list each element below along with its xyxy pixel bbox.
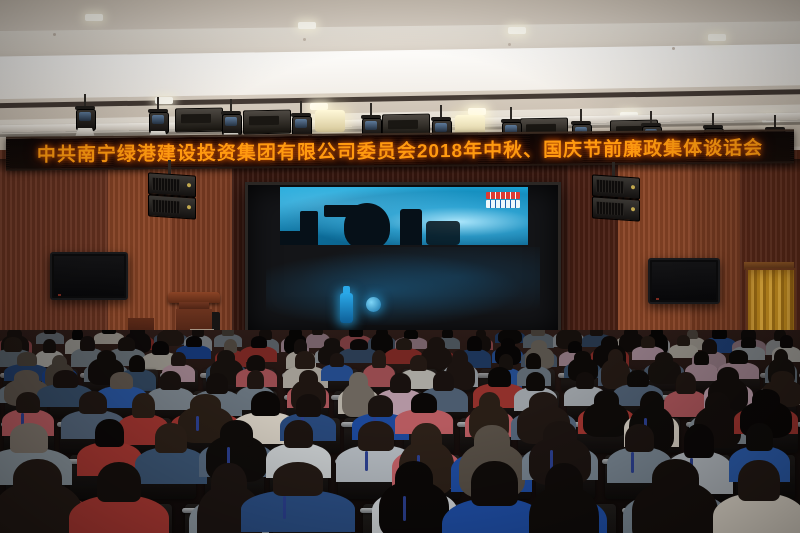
- audience-person-head: [284, 420, 313, 448]
- audience-person-head: [80, 336, 95, 351]
- audience-person-head: [531, 330, 545, 336]
- truss-fixture-box: [175, 108, 223, 133]
- audience-person-head: [752, 389, 780, 411]
- audience-person-head: [52, 355, 67, 370]
- downlight-icon: [298, 22, 316, 29]
- ceiling-sensor-icon: [303, 38, 306, 41]
- audience-person-head: [251, 391, 281, 417]
- audience-person-head: [152, 341, 169, 355]
- audience-person-head: [358, 421, 394, 450]
- audience-person-head: [43, 339, 56, 353]
- audience-person-shoulders: [321, 364, 353, 381]
- audience-person-head: [433, 371, 454, 391]
- audience-person-head: [4, 337, 22, 351]
- audience-person-head: [296, 394, 321, 417]
- audience-person-head: [44, 330, 56, 334]
- audience-person-head: [155, 423, 187, 453]
- audience-person-head: [411, 423, 441, 455]
- audience-person-head: [590, 330, 603, 336]
- audience-person-head: [576, 372, 595, 388]
- conference-hall-scene: 中共南宁绿港建设投资集团有限公司委员会2018年中秋、国庆节前廉政集体谈话会: [0, 0, 800, 533]
- audience-person-head: [780, 335, 793, 348]
- ceiling-sensor-icon: [672, 47, 675, 50]
- audience-person-head: [677, 335, 690, 346]
- audience-person-head: [712, 330, 727, 339]
- audience-person-head: [16, 392, 39, 413]
- audience-person-head: [330, 353, 344, 367]
- audience-person-head: [129, 355, 146, 372]
- audience-person-head: [251, 336, 267, 349]
- led-banner-text: 中共南宁绿港建设投资集团有限公司委员会2018年中秋、国庆节前廉政集体谈话会: [6, 133, 794, 168]
- audience-person-head: [410, 355, 427, 371]
- audience-person-head: [97, 350, 117, 366]
- downlight-icon: [85, 14, 103, 21]
- audience-person-head: [97, 462, 142, 502]
- audience-person-head: [247, 370, 264, 389]
- audience-person-head: [130, 330, 145, 337]
- truss-fixture-box: [243, 110, 291, 135]
- audience-person-head: [17, 352, 37, 366]
- audience-person-head: [640, 391, 664, 418]
- audience-person-head: [526, 372, 545, 391]
- ceiling-sensor-icon: [53, 33, 56, 36]
- audience-person-head: [222, 330, 234, 336]
- downlight-icon: [310, 103, 328, 110]
- right-wall-tv: [648, 258, 720, 304]
- audience-person-head: [746, 423, 773, 452]
- audience-person-head: [467, 336, 482, 351]
- audience-person-head: [411, 393, 437, 413]
- audience-lanyard: [196, 416, 199, 431]
- audience-person-head: [652, 459, 699, 499]
- audience-person-head: [368, 395, 394, 417]
- audience-person-head: [428, 337, 445, 352]
- audience-person-head: [372, 350, 386, 368]
- audience-person-head: [349, 330, 363, 337]
- audience-person-head: [102, 330, 115, 334]
- audience-person-head: [395, 461, 433, 496]
- audience-person-head: [10, 423, 48, 453]
- audience-person-head: [190, 394, 220, 416]
- audience-person-head: [738, 460, 779, 501]
- projected-video: [280, 187, 528, 245]
- audience-person-head: [729, 350, 747, 364]
- audience-person-head: [503, 330, 516, 333]
- audience-lanyard: [365, 451, 368, 472]
- audience-person-head: [655, 352, 673, 366]
- audience-person-head: [741, 337, 755, 348]
- audience-lanyard: [403, 496, 406, 520]
- audience-person-head: [247, 355, 265, 370]
- audience-person-head: [324, 338, 339, 350]
- audience-person-head: [684, 424, 714, 458]
- audience-person-head: [641, 336, 656, 347]
- speaker-left: [148, 172, 194, 218]
- audience-person-head: [160, 371, 181, 390]
- audience-person-head: [501, 338, 515, 350]
- audience-person-head: [220, 420, 253, 448]
- ceiling-sensor-icon: [508, 43, 511, 46]
- audience-person-head: [531, 340, 547, 353]
- audience-person-head: [676, 372, 696, 393]
- audience-person-head: [608, 349, 624, 367]
- audience-person-head: [14, 370, 38, 386]
- audience-person-head: [562, 330, 576, 334]
- audience-person-head: [545, 463, 583, 504]
- par-light-icon: [315, 110, 345, 132]
- audience-person-head: [79, 391, 108, 414]
- audience-person-head: [526, 353, 541, 369]
- audience-person-head: [771, 371, 793, 387]
- audience-person-head: [717, 367, 739, 387]
- audience-person-head: [705, 392, 730, 417]
- audience-person-head: [312, 330, 323, 335]
- downlight-icon: [708, 34, 726, 41]
- audience-person-head: [13, 459, 62, 500]
- audience-person-head: [442, 330, 453, 338]
- audience-person-head: [53, 370, 78, 388]
- audience-person-head: [95, 419, 124, 447]
- audience-person-head: [217, 350, 235, 365]
- speaker-right: [592, 174, 638, 220]
- audience-person-head: [694, 351, 709, 365]
- audience-person-head: [163, 330, 178, 334]
- downlight-icon: [508, 27, 526, 34]
- audience-person-head: [186, 336, 202, 347]
- audience-person-head: [206, 373, 228, 394]
- audience-person-head: [488, 367, 511, 387]
- audience-person-head: [543, 421, 577, 450]
- audience-person-head: [171, 352, 186, 367]
- audience-person-shoulders: [135, 447, 207, 484]
- audience-person-head: [299, 370, 318, 388]
- audience-person-head: [118, 337, 135, 351]
- downlight-icon: [468, 108, 486, 115]
- audience-person-head: [110, 372, 132, 389]
- audience-person-head: [574, 351, 590, 364]
- audience-person-head: [774, 349, 788, 366]
- audience-person-head: [625, 424, 654, 453]
- audience-person-head: [211, 463, 246, 504]
- audience-person-head: [452, 350, 468, 368]
- projection-screen: [245, 182, 561, 336]
- left-wall-tv: [50, 252, 128, 300]
- audience-person-head: [289, 330, 302, 339]
- audience-lanyard: [631, 452, 634, 472]
- water-bottle-reflection: [340, 293, 353, 323]
- audience-person-head: [474, 425, 510, 457]
- audience-person-head: [594, 390, 619, 411]
- audience-person-shoulders: [241, 490, 355, 532]
- audience-person-head: [396, 338, 413, 350]
- audience-lanyard: [283, 496, 286, 519]
- audience-area: [0, 330, 800, 533]
- audience-person-head: [390, 373, 411, 393]
- projected-lower-image: [266, 247, 540, 325]
- audience-person-head: [529, 392, 558, 415]
- audience-person-head: [295, 351, 315, 369]
- audience-person-head: [273, 462, 324, 495]
- audience-person-head: [349, 372, 367, 392]
- audience-person-head: [471, 461, 518, 506]
- audience-person-head: [376, 330, 388, 338]
- glass-reflection: [366, 297, 381, 312]
- audience-person-head: [350, 339, 368, 351]
- audience-person-head: [627, 370, 649, 388]
- audience-person-head: [132, 393, 155, 418]
- audience-person-head: [479, 392, 501, 414]
- audience-person-head: [624, 330, 638, 338]
- broadcast-logo-icon: [486, 192, 520, 208]
